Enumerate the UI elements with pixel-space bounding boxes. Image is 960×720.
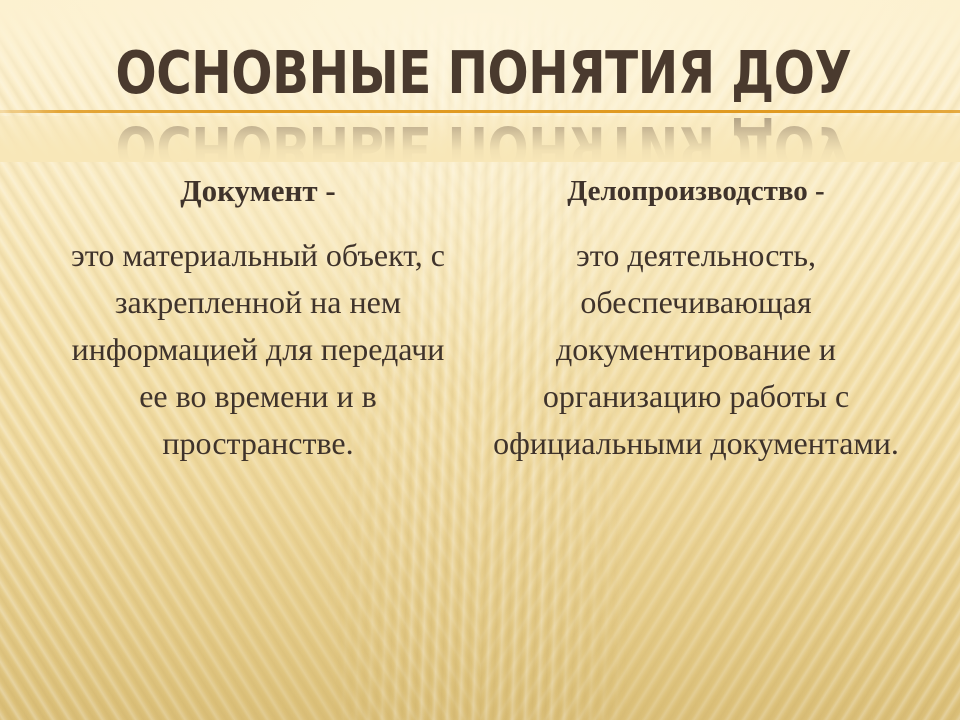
slide-title-reflection: ОСНОВНЫЕ ПОНЯТИЯ ДОУ — [0, 116, 960, 162]
slide-title: ОСНОВНЫЕ ПОНЯТИЯ ДОУ — [90, 42, 877, 104]
slide: ОСНОВНЫЕ ПОНЯТИЯ ДОУ ОСНОВНЫЕ ПОНЯТИЯ ДО… — [0, 0, 960, 720]
definition-column-document: Документ - это материальный объект, с за… — [58, 172, 458, 467]
definition-text-document: это материальный объект, с закрепленной … — [58, 232, 458, 467]
definition-columns: Документ - это материальный объект, с за… — [0, 172, 960, 467]
term-heading-document: Документ - — [58, 172, 458, 210]
slide-title-block: ОСНОВНЫЕ ПОНЯТИЯ ДОУ — [0, 42, 960, 114]
slide-title-reflection-text: ОСНОВНЫЕ ПОНЯТИЯ ДОУ — [90, 116, 877, 162]
term-heading-recordkeeping: Делопроизводство - — [486, 172, 906, 210]
slide-title-reflection-fade — [0, 116, 960, 162]
title-divider-rule — [0, 110, 960, 113]
definition-column-recordkeeping: Делопроизводство - это деятельность, обе… — [486, 172, 906, 467]
definition-text-recordkeeping: это деятельность, обеспечивающая докумен… — [486, 232, 906, 467]
